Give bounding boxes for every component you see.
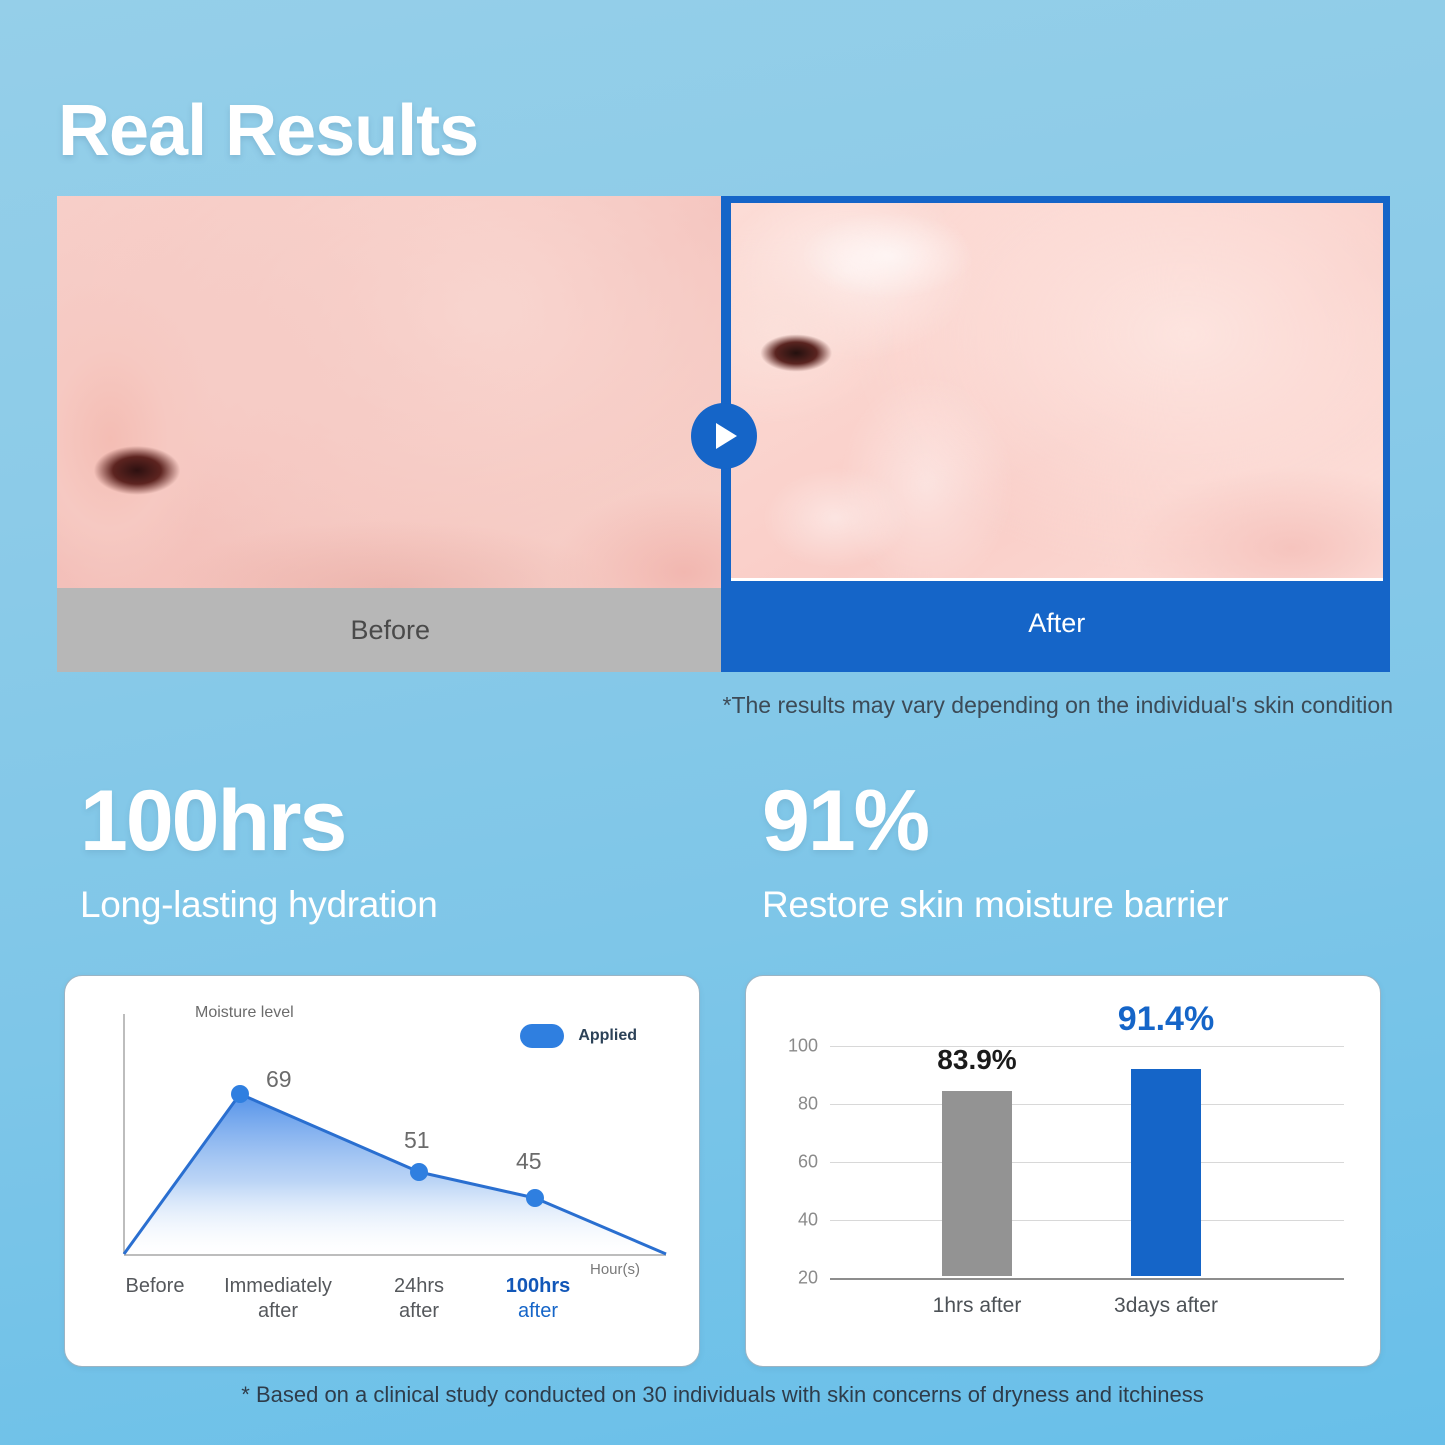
stat-block-barrier: 91% Restore skin moisture barrier <box>762 776 1402 926</box>
play-icon[interactable] <box>691 403 757 469</box>
bar-value-label-1hrs: 83.9% <box>937 1044 1016 1076</box>
moisture-barrier-bar-chart: 100 80 60 40 20 83.9% 91.4% 1hrs after 3… <box>746 976 1380 1366</box>
bar-chart-card: 100 80 60 40 20 83.9% 91.4% 1hrs after 3… <box>745 975 1381 1367</box>
bar-value-label-3days: 91.4% <box>1118 1000 1214 1039</box>
legend-label-applied: Applied <box>578 1027 637 1045</box>
line-chart-category-immediately: Immediately after <box>208 1274 348 1324</box>
bar-chart-gridline <box>830 1046 1344 1047</box>
line-chart-area <box>124 1094 666 1254</box>
after-photo <box>731 203 1384 581</box>
before-label: Before <box>57 588 724 672</box>
category-line-1: 24hrs <box>394 1275 444 1297</box>
category-line-2: after <box>399 1300 439 1322</box>
category-line-2: after <box>258 1300 298 1322</box>
comparison-disclaimer: *The results may vary depending on the i… <box>723 692 1394 719</box>
bar-chart-y-tick: 60 <box>766 1152 818 1173</box>
stat-block-hydration: 100hrs Long-lasting hydration <box>80 776 720 926</box>
line-chart-point <box>410 1163 428 1181</box>
line-chart-category-24hrs: 24hrs after <box>366 1274 472 1324</box>
bar-category-1hrs: 1hrs after <box>933 1294 1022 1318</box>
bar-chart-gridline <box>830 1220 1344 1221</box>
before-photo <box>57 196 724 588</box>
line-chart-category-before: Before <box>110 1274 200 1299</box>
before-after-comparison[interactable]: Before After <box>57 196 1390 672</box>
line-chart-point <box>231 1085 249 1103</box>
stat-value-hydration: 100hrs <box>80 776 720 866</box>
category-line-1: Immediately <box>224 1275 332 1297</box>
page-title: Real Results <box>58 90 478 172</box>
bar-chart-baseline <box>830 1278 1344 1280</box>
line-chart-value-label: 45 <box>516 1148 542 1175</box>
line-chart-legend: Applied <box>520 1024 637 1048</box>
play-triangle-icon <box>716 423 737 449</box>
line-chart-value-label: 69 <box>266 1066 292 1093</box>
line-chart-category-100hrs: 100hrs after <box>482 1274 594 1324</box>
bar-chart-gridline <box>830 1104 1344 1105</box>
category-line-2: after <box>518 1300 558 1322</box>
bar-chart-y-tick: 80 <box>766 1094 818 1115</box>
bar-category-3days: 3days after <box>1114 1294 1218 1318</box>
bar-chart-gridline <box>830 1162 1344 1163</box>
bar-3days-after <box>1131 1069 1201 1276</box>
legend-swatch-applied <box>520 1024 564 1048</box>
after-panel: After <box>724 196 1391 672</box>
category-line-1: Before <box>126 1275 185 1297</box>
bar-1hrs-after <box>942 1091 1012 1276</box>
stat-value-barrier: 91% <box>762 776 1402 866</box>
study-footnote: * Based on a clinical study conducted on… <box>0 1382 1445 1408</box>
stat-caption-hydration: Long-lasting hydration <box>80 884 720 926</box>
bar-chart-y-tick: 20 <box>766 1268 818 1289</box>
before-panel: Before <box>57 196 724 672</box>
after-label: After <box>731 581 1384 665</box>
line-chart-point <box>526 1189 544 1207</box>
line-chart-y-axis-label: Moisture level <box>195 1002 294 1024</box>
bar-chart-y-tick: 100 <box>766 1036 818 1057</box>
line-chart-x-axis-label: Hour(s) <box>590 1261 640 1278</box>
stat-caption-barrier: Restore skin moisture barrier <box>762 884 1402 926</box>
category-line-1: 100hrs <box>482 1274 594 1299</box>
line-chart-value-label: 51 <box>404 1127 430 1154</box>
bar-chart-y-tick: 40 <box>766 1210 818 1231</box>
